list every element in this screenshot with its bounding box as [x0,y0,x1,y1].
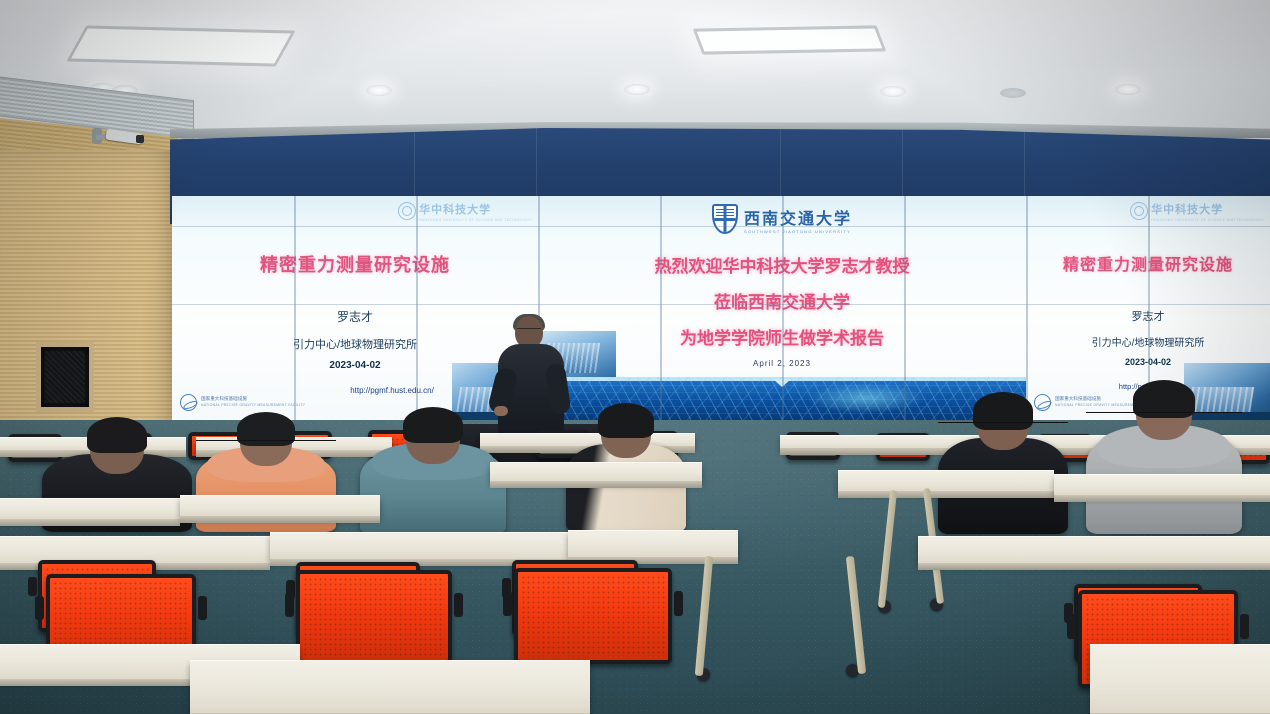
presenter-speaker [498,316,564,438]
downlight-icon [880,86,906,97]
security-camera [96,128,142,150]
downlight-icon [366,85,392,96]
desk-row4 [190,660,590,714]
chair-row4[interactable] [514,568,672,664]
left-slide-url[interactable]: http://pgmf.hust.edu.cn/ [312,386,472,395]
desk-row2 [490,462,702,482]
speaker-grille [45,351,85,403]
desk-row3 [918,536,1270,564]
pgmf-mark-icon [180,394,197,411]
hust-logo-name: 华中科技大学 [1151,204,1223,216]
student-glasses-icon [1086,412,1242,416]
lecture-hall-photo: 华中科技大学 HUAZHONG UNIVERSITY OF SCIENCE AN… [0,0,1270,714]
presenter-glasses-icon [517,328,541,333]
desk-row2 [838,470,1054,492]
student-hair [598,403,654,438]
desk-row2 [0,498,180,520]
band-glow [806,383,926,413]
hust-logo-name: 华中科技大学 [419,204,491,216]
chair-row4[interactable] [296,570,452,664]
student-hair [87,417,147,453]
swjtu-logo-name-en: SOUTHWEST JIAOTONG UNIVERSITY [744,229,852,234]
desk-row2 [180,495,380,517]
swjtu-shield-icon [712,204,738,234]
student-glasses-icon [196,440,336,444]
swjtu-logo-name: 西南交通大学 [744,211,852,228]
smoke-detector-icon [1000,88,1026,98]
desk-row3 [270,532,570,560]
student-grey-hoodie [1086,386,1242,534]
left-slide-title: 精密重力测量研究设施 [172,251,538,277]
left-slide-affiliation: 引力中心/地球物理研究所 [172,336,538,352]
student-hair [403,407,463,443]
hust-seal-icon [1130,202,1148,220]
ceiling-panel-light [693,25,887,54]
hust-logo: 华中科技大学 HUAZHONG UNIVERSITY OF SCIENCE AN… [398,200,532,222]
downlight-icon [624,84,650,95]
student-black-jacket-glasses [938,398,1068,534]
hust-logo-name-en: HUAZHONG UNIVERSITY OF SCIENCE AND TECHN… [419,218,532,222]
hust-logo-name-en: HUAZHONG UNIVERSITY OF SCIENCE AND TECHN… [1151,218,1264,222]
student-teal-hoodie [360,412,506,534]
student-glasses-icon [938,422,1068,426]
pgmf-logo-cn: 国家重大科技基础设施 [201,396,305,403]
hust-logo: 华中科技大学 HUAZHONG UNIVERSITY OF SCIENCE AN… [1130,200,1264,222]
desk-row2 [1054,474,1270,496]
pgmf-logo-en: NATIONAL PRECISE GRAVITY MEASUREMENT FAC… [201,403,305,408]
video-wall-left-slide: 华中科技大学 HUAZHONG UNIVERSITY OF SCIENCE AN… [172,196,538,421]
wall-speaker [36,342,94,412]
left-slide-presenter: 罗志才 [172,308,538,325]
desk-row4 [1090,644,1270,714]
downlight-icon [1115,84,1141,95]
wood-slat-wall [0,150,178,450]
ceiling-panel-light [66,25,295,66]
pgmf-footer-logo: 国家重大科技基础设施 NATIONAL PRECISE GRAVITY MEAS… [180,389,312,415]
hust-seal-icon [398,202,416,220]
desk-row3 [568,530,738,558]
camera-lens-icon [136,135,144,143]
